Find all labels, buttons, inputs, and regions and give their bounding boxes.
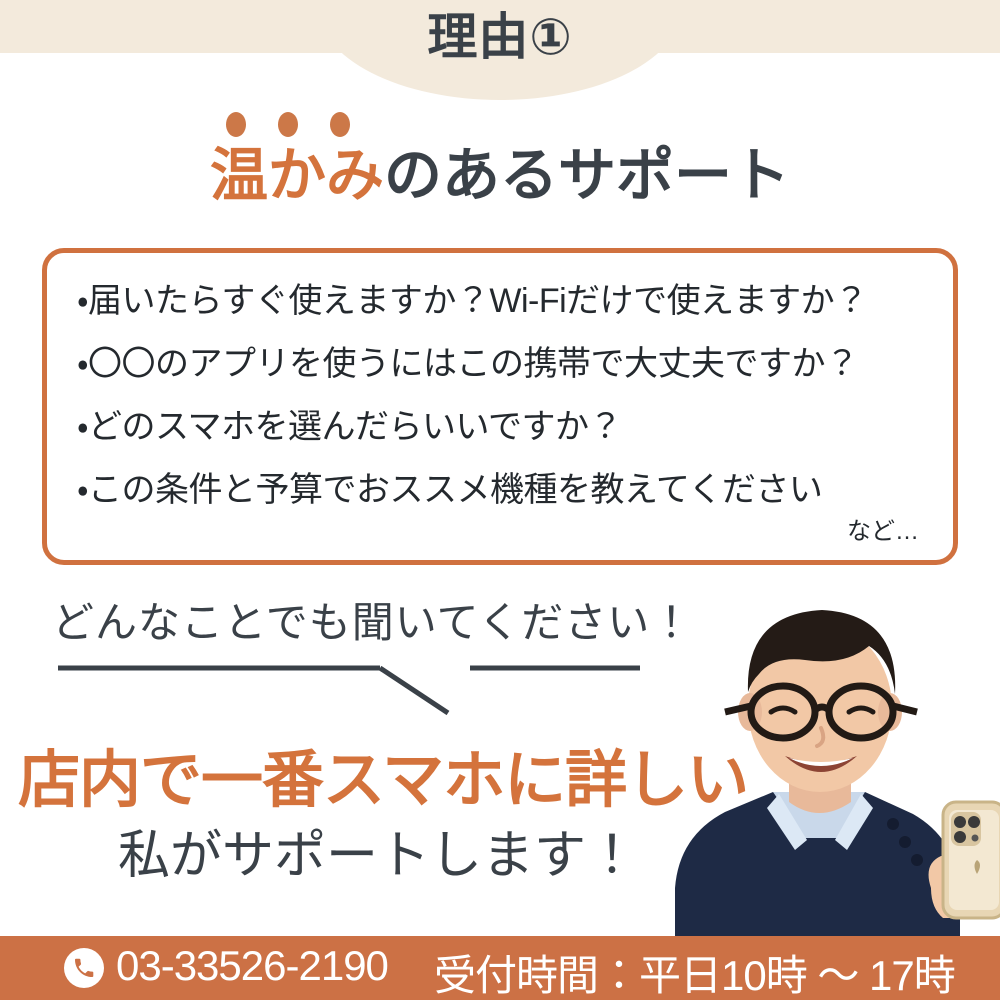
dot-3-icon [330, 112, 350, 137]
list-item: ・どのスマホを選んだらいいですか？ [77, 401, 939, 453]
hero-headline: 温かみのあるサポート [0, 143, 1000, 210]
dot-2-icon [278, 112, 298, 137]
phone-number[interactable]: 03-33526-2190 [116, 942, 388, 990]
closing-headline: 店内で一番スマホに詳しい [18, 748, 748, 813]
speech-bubble-tail-icon [40, 660, 680, 730]
question-list: ・届いたらすぐ使えますか？Wi-Fiだけで使えますか？ ・〇〇のアプリを使うには… [77, 275, 939, 527]
caption-text: どんなことでも聞いてください！ [52, 600, 693, 646]
staff-photo-illustration [655, 588, 1000, 938]
question-box: ・届いたらすぐ使えますか？Wi-Fiだけで使えますか？ ・〇〇のアプリを使うには… [42, 248, 958, 565]
closing-subline: 私がサポートします！ [118, 828, 638, 885]
business-hours: 受付時間：平日10時 ～ 17時 [434, 942, 955, 1000]
page-title: 理由① [0, 10, 1000, 65]
promo-banner: 理由① 温かみのあるサポート ・届いたらすぐ使えますか？Wi-Fiだけで使えます… [0, 0, 1000, 1000]
hero-accent-text: 温かみ [210, 143, 384, 208]
footer-contact-bar: 03-33526-2190 受付時間：平日10時 ～ 17時 [0, 936, 1000, 1000]
list-item: ・届いたらすぐ使えますか？Wi-Fiだけで使えますか？ [77, 275, 939, 327]
three-dots-icon [226, 112, 356, 138]
question-box-note: など… [847, 511, 919, 546]
staff-photo [655, 588, 1000, 938]
dot-1-icon [226, 112, 246, 137]
list-item: ・この条件と予算でおススメ機種を教えてください [77, 464, 939, 516]
phone-icon[interactable] [64, 948, 104, 988]
hero-rest-text: のあるサポート [384, 143, 790, 208]
phone-glyph [72, 956, 96, 980]
list-item: ・〇〇のアプリを使うにはこの携帯で大丈夫ですか？ [77, 338, 939, 390]
